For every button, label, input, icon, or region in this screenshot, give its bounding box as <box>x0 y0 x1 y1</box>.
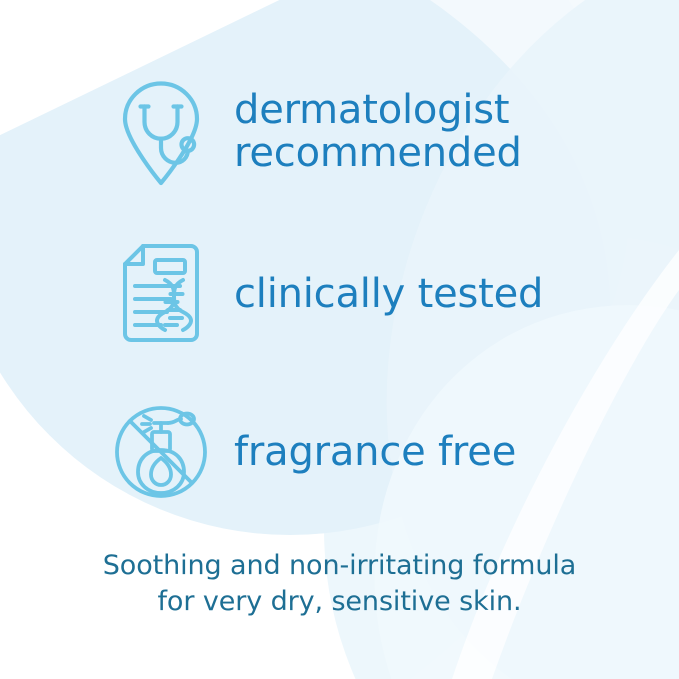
feature-label-dermatologist-recommended: dermatologist recommended <box>234 89 522 175</box>
footer-description: Soothing and non-irritating formula for … <box>0 548 679 620</box>
feature-label-fragrance-free: fragrance free <box>234 431 516 474</box>
feature-row-clinically-tested: clinically tested <box>112 240 543 348</box>
product-benefits-graphic: dermatologist recommended <box>0 0 679 679</box>
clinical-document-dna-icon <box>112 240 210 348</box>
feature-row-fragrance-free: fragrance free <box>112 398 516 506</box>
no-fragrance-perfume-bottle-icon <box>112 398 210 506</box>
content-layer: dermatologist recommended <box>0 0 679 679</box>
feature-row-dermatologist-recommended: dermatologist recommended <box>112 78 522 186</box>
location-pin-stethoscope-icon <box>112 78 210 186</box>
feature-label-clinically-tested: clinically tested <box>234 273 543 316</box>
